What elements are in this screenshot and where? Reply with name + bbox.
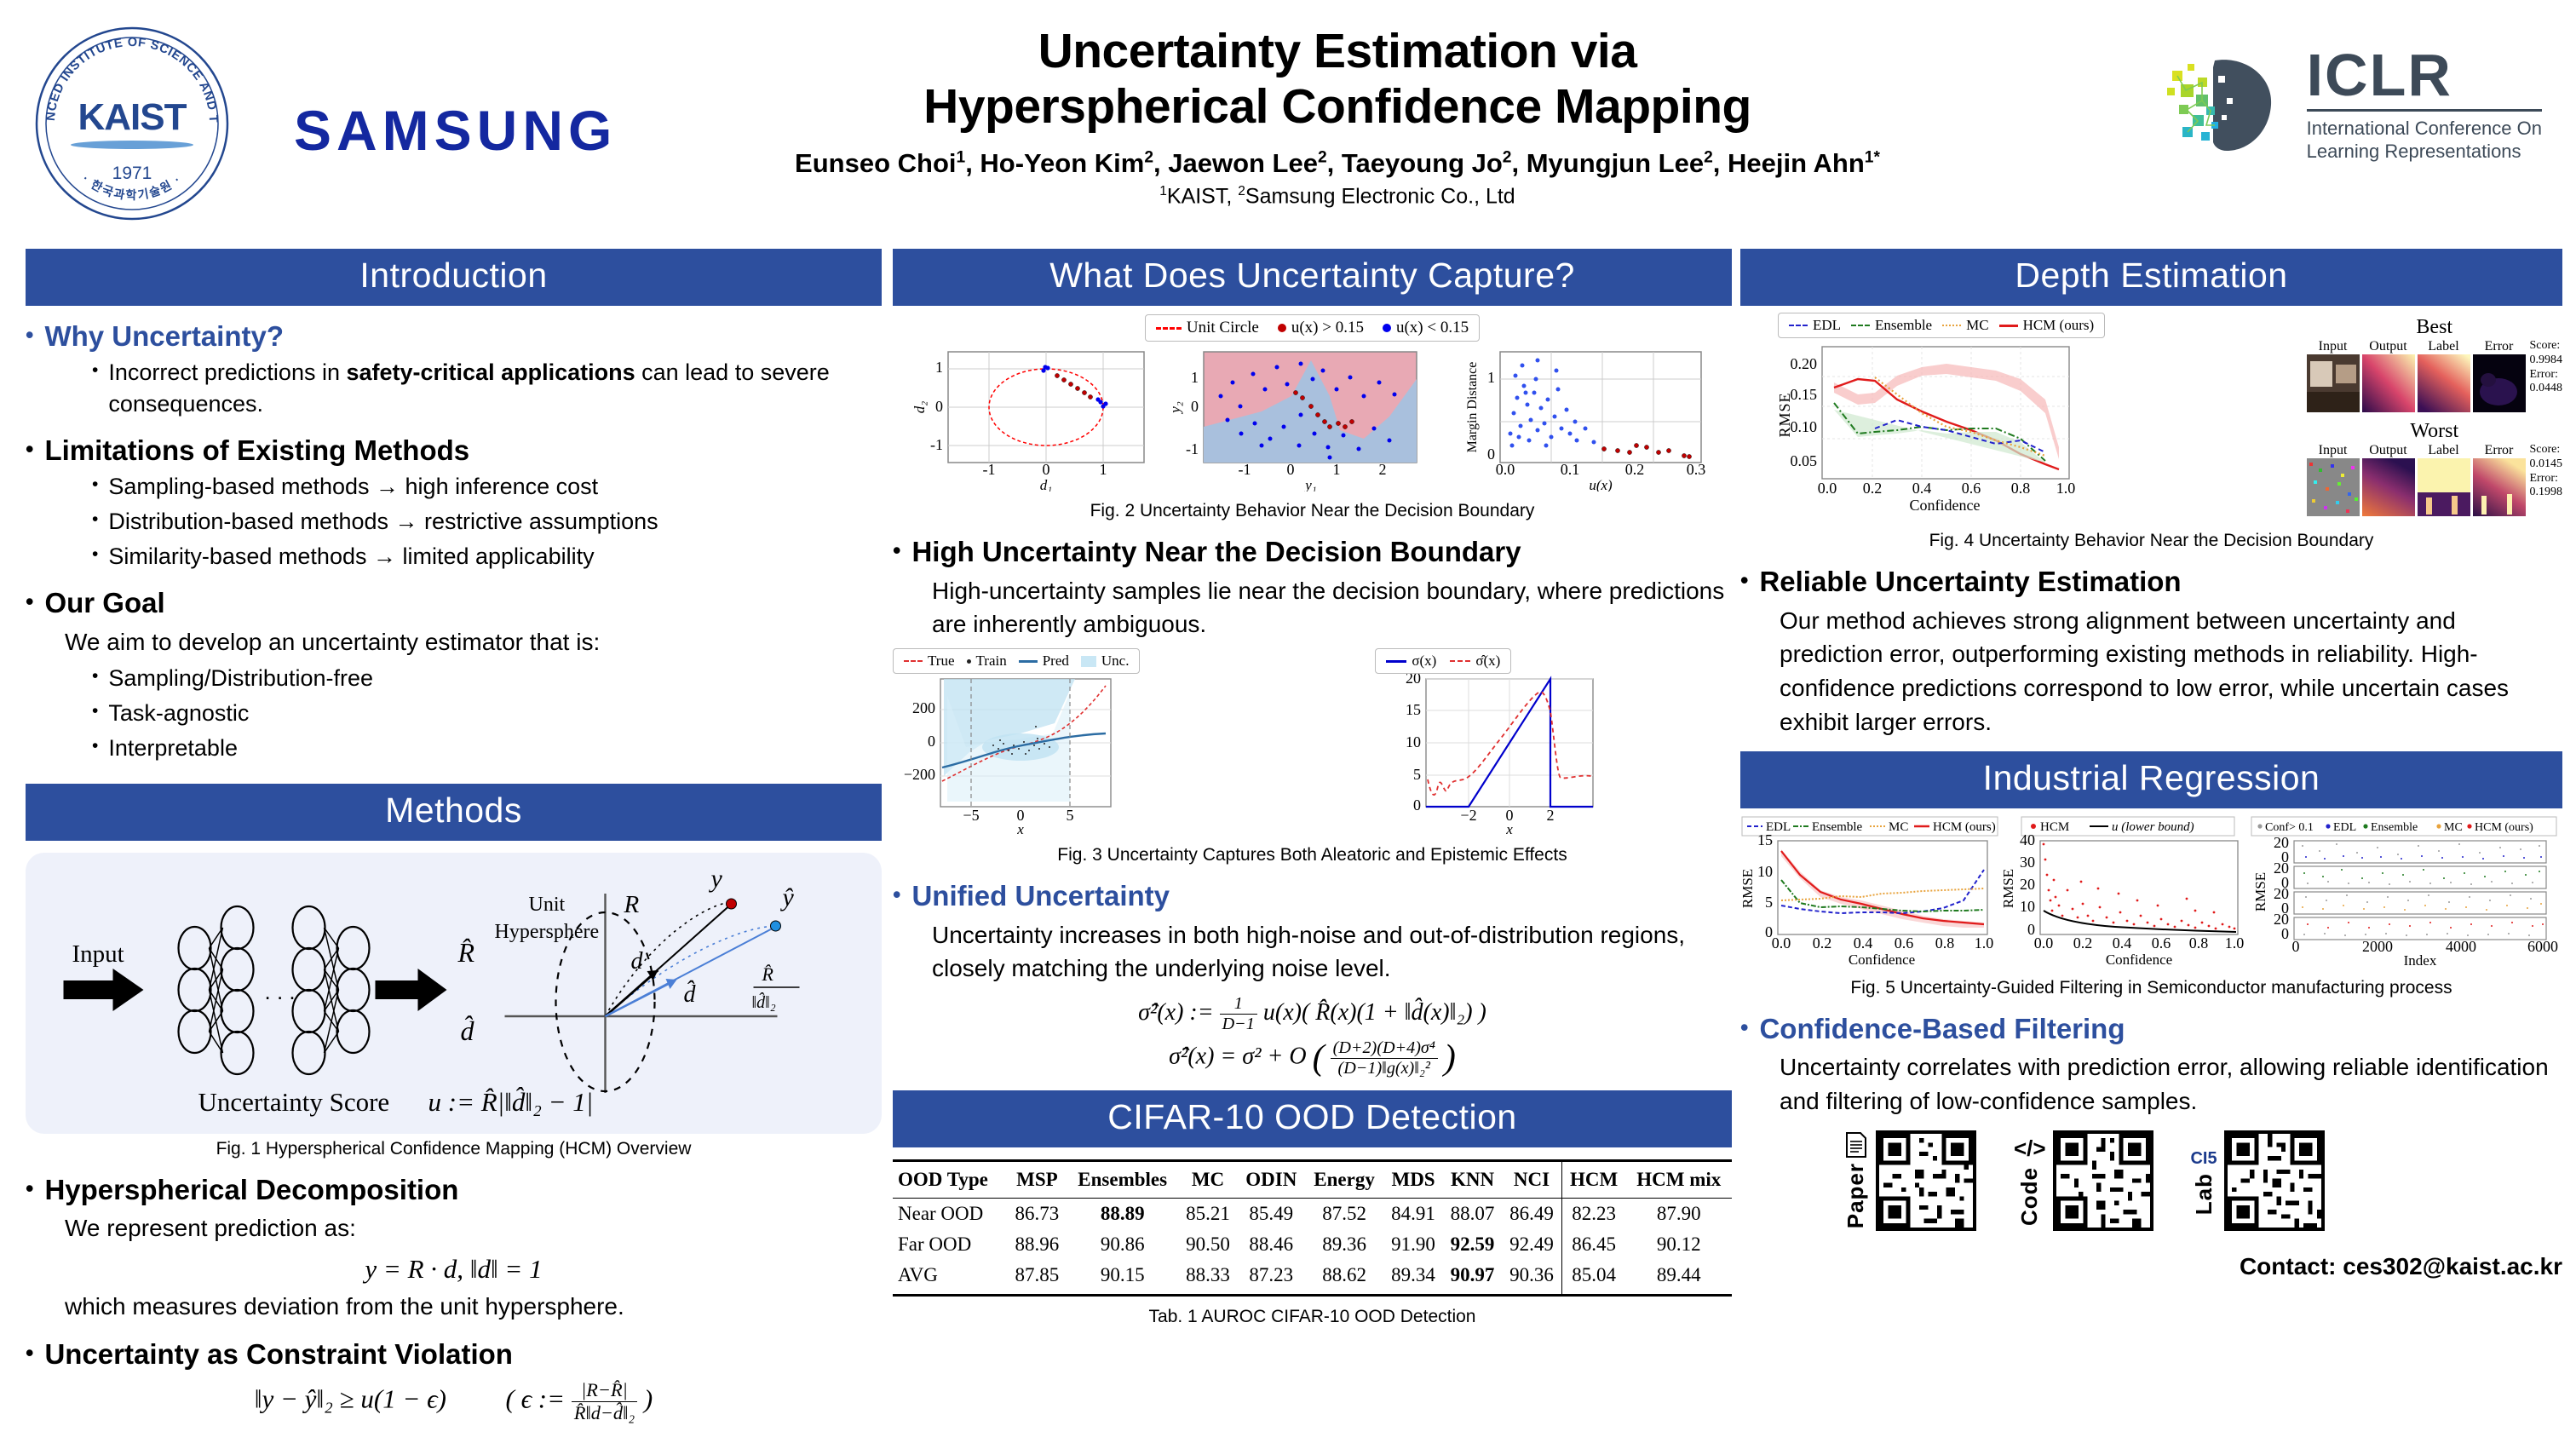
cell: 87.85 bbox=[1008, 1260, 1067, 1296]
svg-text:0.1: 0.1 bbox=[1560, 461, 1579, 478]
svg-text:1: 1 bbox=[1332, 461, 1340, 478]
legend-swatch bbox=[1851, 325, 1870, 326]
bullet-dot-icon: • bbox=[893, 535, 900, 569]
iclr-brain-icon bbox=[2164, 54, 2291, 156]
svg-text:MC: MC bbox=[2444, 821, 2463, 834]
legend-u-gt: u(x) > 0.15 bbox=[1278, 319, 1364, 337]
table-header-row: OOD Type MSP Ensembles MC ODIN Energy MD… bbox=[893, 1161, 1732, 1199]
bullet-dot-icon: • bbox=[92, 506, 98, 538]
col-mds: MDS bbox=[1383, 1161, 1442, 1199]
svg-text:0: 0 bbox=[2292, 938, 2300, 955]
best-label: Best bbox=[2307, 316, 2563, 339]
svg-text:Margin Distance: Margin Distance bbox=[1465, 362, 1480, 453]
bullet-reliable-estimation: • Reliable Uncertainty Estimation bbox=[1740, 565, 2562, 599]
legend-sigma-hat: σ̂(x) bbox=[1450, 653, 1500, 670]
svg-text:0.4: 0.4 bbox=[2113, 934, 2132, 952]
hcm-diagram-svg: Input bbox=[26, 853, 882, 1134]
legend-swatch bbox=[1081, 656, 1096, 667]
legend-unit-circle: Unit Circle bbox=[1156, 319, 1259, 337]
col-nci: NCI bbox=[1502, 1161, 1561, 1199]
bullet-dot-icon: • bbox=[92, 663, 98, 694]
row-label: AVG bbox=[893, 1260, 1008, 1296]
figure-3-caption: Fig. 3 Uncertainty Captures Both Aleator… bbox=[893, 845, 1732, 865]
sub-bullet-text: Distribution-based methods → restrictive… bbox=[108, 506, 658, 538]
svg-text:HCM (ours): HCM (ours) bbox=[2475, 821, 2533, 834]
svg-text:5: 5 bbox=[1067, 807, 1074, 824]
svg-text:10: 10 bbox=[2020, 898, 2035, 915]
formula-sigma-expansion: σ̂²(x) = σ² + O ( (D+2)(D+4)σ⁴ (D−1)‖g(x… bbox=[893, 1038, 1732, 1078]
cell: 90.97 bbox=[1443, 1260, 1502, 1296]
fig5-panel-3: 20 0 20 0 bbox=[2252, 834, 2558, 969]
svg-text:15: 15 bbox=[1406, 701, 1421, 718]
cell: 82.23 bbox=[1561, 1199, 1625, 1230]
formula-eps-lead: ( ϵ := bbox=[506, 1384, 566, 1414]
legend-u-lt: u(x) < 0.15 bbox=[1383, 319, 1469, 337]
col-energy: Energy bbox=[1305, 1161, 1383, 1199]
svg-text:0.05: 0.05 bbox=[1791, 452, 1818, 469]
section-header-cifar: CIFAR-10 OOD Detection bbox=[893, 1090, 1732, 1147]
cell: 87.90 bbox=[1626, 1199, 1733, 1230]
bullet-limitations: • Limitations of Existing Methods bbox=[26, 434, 882, 468]
uncertainty-score-formula: u := R̂|‖d̂‖₂ − 1| bbox=[428, 1086, 594, 1116]
svg-text:0.4: 0.4 bbox=[1912, 480, 1932, 497]
diagram-output-d: d̂ bbox=[461, 1015, 475, 1046]
svg-text:Confidence: Confidence bbox=[1849, 952, 1915, 968]
sub-bullet-sampling-based: • Sampling-based methods → high inferenc… bbox=[92, 471, 882, 503]
svg-text:0.3: 0.3 bbox=[1686, 461, 1705, 478]
svg-text:RMSE: RMSE bbox=[1740, 868, 1756, 907]
sub-bullet-sampling-free: • Sampling/Distribution-free bbox=[92, 663, 882, 694]
formula-tail: u(x)( R̂(x)(1 + ‖d̂(x)‖₂) ) bbox=[1263, 999, 1486, 1026]
samsung-logo: SAMSUNG bbox=[294, 98, 617, 163]
point-y bbox=[727, 899, 737, 909]
reliable-estimation-paragraph: Our method achieves strong alignment bet… bbox=[1780, 604, 2562, 739]
figure-4-legend: EDL Ensemble MC HCM (ours) bbox=[1778, 313, 2105, 338]
figure-4-caption: Fig. 4 Uncertainty Behavior Near the Dec… bbox=[1740, 531, 2562, 551]
bullet-dot-icon: • bbox=[92, 471, 98, 503]
thumb-img-output bbox=[2362, 354, 2415, 412]
svg-text:0.8: 0.8 bbox=[2011, 480, 2031, 497]
col-mc: MC bbox=[1178, 1161, 1237, 1199]
fig5-panel-2: 40 30 20 10 0 0.0 0.2 0.4 0.6 0.8 1.0 Co… bbox=[2000, 831, 2244, 968]
title-line-2: Hyperspherical Confidence Mapping bbox=[733, 79, 1942, 135]
svg-text:20: 20 bbox=[2020, 876, 2035, 893]
legend-swatch bbox=[1386, 660, 1406, 663]
subpanel-ensemble: 20 0 bbox=[2274, 860, 2546, 891]
cell: 88.33 bbox=[1178, 1260, 1237, 1296]
label-R: R bbox=[624, 891, 640, 918]
col-hcm: HCM bbox=[1561, 1161, 1625, 1199]
svg-text:0: 0 bbox=[2281, 925, 2289, 942]
cell: 86.73 bbox=[1008, 1199, 1067, 1230]
nn-layer-1 bbox=[179, 927, 211, 1053]
thumb-img-input-noisy bbox=[2307, 458, 2360, 516]
svg-text:-1: -1 bbox=[1186, 440, 1199, 457]
title-line-1: Uncertainty Estimation via bbox=[733, 24, 1942, 79]
cell: 87.52 bbox=[1305, 1199, 1383, 1230]
svg-text:Ensemble: Ensemble bbox=[2371, 821, 2418, 834]
cell: 91.90 bbox=[1383, 1229, 1442, 1260]
iclr-subtitle-1: International Conference On bbox=[2307, 117, 2542, 141]
cell: 89.34 bbox=[1383, 1260, 1442, 1296]
svg-text:5: 5 bbox=[1413, 766, 1421, 783]
figure-2-plots: -1 0 1 1 0 -1 d₁ d₂ bbox=[904, 345, 1722, 492]
figure-3-legend-right: σ(x) σ̂(x) bbox=[1375, 648, 1511, 674]
svg-text:Index: Index bbox=[2404, 952, 2437, 969]
worst-thumb-input: Input bbox=[2307, 443, 2360, 520]
thumb-img-label-worst bbox=[2418, 458, 2470, 516]
svg-text:2000: 2000 bbox=[2362, 938, 2393, 955]
cell: 85.21 bbox=[1178, 1199, 1237, 1230]
bullet-dot-icon: • bbox=[26, 434, 33, 468]
legend-mc: MC bbox=[1942, 317, 1988, 334]
formula-main-part: ‖y − ŷ‖₂ ≥ u(1 − ϵ) bbox=[255, 1384, 446, 1414]
cell: 85.04 bbox=[1561, 1260, 1625, 1296]
point-yhat bbox=[771, 921, 781, 931]
svg-text:0.0: 0.0 bbox=[1772, 934, 1791, 952]
sub-bullet-text: Interpretable bbox=[108, 733, 238, 764]
svg-text:EDL: EDL bbox=[2333, 821, 2356, 834]
affiliation-line: 1KAIST, 2Samsung Electronic Co., Ltd bbox=[733, 184, 1942, 209]
bullet-label: Hyperspherical Decomposition bbox=[44, 1173, 458, 1207]
cell: 90.86 bbox=[1067, 1229, 1178, 1260]
qr-lab-side: CI5 Lab bbox=[2191, 1146, 2217, 1215]
svg-text:HCM (ours): HCM (ours) bbox=[1933, 820, 1996, 834]
svg-text:−2: −2 bbox=[1461, 807, 1477, 824]
sub-bullet-text: Sampling/Distribution-free bbox=[108, 663, 373, 694]
legend-ensemble: Ensemble bbox=[1851, 317, 1932, 334]
qr-code[interactable]: </> Code bbox=[2014, 1130, 2153, 1231]
qr-paper-side: Paper bbox=[1843, 1132, 1869, 1228]
legend-swatch bbox=[1942, 325, 1961, 326]
col-knn: KNN bbox=[1443, 1161, 1502, 1199]
svg-text:HCM: HCM bbox=[2040, 820, 2069, 834]
svg-text:200: 200 bbox=[912, 699, 935, 716]
label-dhat: d̂ bbox=[684, 980, 697, 1008]
iclr-logo: ICLR International Conference On Learnin… bbox=[2164, 47, 2542, 164]
section-header-depth: Depth Estimation bbox=[1740, 249, 2562, 306]
legend-swatch bbox=[904, 660, 923, 662]
bullet-hyperspherical-decomposition: • Hyperspherical Decomposition bbox=[26, 1173, 882, 1207]
qr-lab-label: Lab bbox=[2191, 1173, 2217, 1215]
bullet-our-goal: • Our Goal bbox=[26, 586, 882, 620]
fig3-panel-1-wrap: True Train Pred Unc. bbox=[893, 648, 1349, 840]
legend-sigma: σ(x) bbox=[1386, 653, 1436, 670]
svg-text:0.15: 0.15 bbox=[1791, 386, 1818, 403]
sub-bullet-text: Sampling-based methods → high inference … bbox=[108, 471, 598, 503]
svg-text:0.0: 0.0 bbox=[1495, 461, 1515, 478]
cell: 89.36 bbox=[1305, 1229, 1383, 1260]
svg-text:40: 40 bbox=[2020, 831, 2035, 848]
best-thumb-output: Output bbox=[2362, 339, 2415, 417]
svg-text:0: 0 bbox=[1286, 461, 1294, 478]
svg-text:1.0: 1.0 bbox=[2225, 934, 2245, 952]
figure-2-legend: Unit Circle u(x) > 0.15 u(x) < 0.15 bbox=[1145, 314, 1480, 342]
bullet-dot-icon: • bbox=[92, 357, 98, 421]
svg-text:−200: −200 bbox=[904, 766, 935, 783]
table-row: Near OOD 86.73 88.89 85.21 85.49 87.52 8… bbox=[893, 1199, 1732, 1230]
svg-text:0.6: 0.6 bbox=[2152, 934, 2171, 952]
legend-swatch bbox=[1019, 660, 1038, 663]
svg-text:1.0: 1.0 bbox=[1975, 934, 1994, 952]
diagram-output-R: R̂ bbox=[457, 937, 475, 968]
svg-text:1971: 1971 bbox=[112, 164, 152, 183]
legend-hcm: HCM (ours) bbox=[1999, 317, 2095, 334]
best-thumb-input: Input bbox=[2307, 339, 2360, 417]
thumb-img-error-worst bbox=[2473, 458, 2526, 516]
bullet-label: Unified Uncertainty bbox=[911, 879, 1170, 913]
svg-text:10: 10 bbox=[1406, 733, 1421, 750]
svg-text:d₁: d₁ bbox=[1039, 477, 1051, 492]
figure-5-plots: EDL Ensemble MC HCM (ours) HCM u (lower … bbox=[1740, 815, 2560, 969]
svg-text:-1: -1 bbox=[1238, 461, 1251, 478]
sub-bullet-text: Similarity-based methods → limited appli… bbox=[108, 541, 594, 572]
svg-text:0: 0 bbox=[1487, 446, 1495, 463]
cell: 92.49 bbox=[1502, 1229, 1561, 1260]
svg-text:0.10: 0.10 bbox=[1791, 418, 1818, 435]
sub-bullet-task-agnostic: • Task-agnostic bbox=[92, 698, 882, 729]
formula-lead: σ̂²(x) = σ² + O bbox=[1169, 1044, 1307, 1070]
thumb-img-error bbox=[2473, 354, 2526, 412]
qr-code-image[interactable] bbox=[2053, 1130, 2153, 1231]
svg-text:0.6: 0.6 bbox=[1895, 934, 1914, 952]
page-title: Uncertainty Estimation via Hyperspherica… bbox=[733, 24, 1942, 135]
document-icon bbox=[1845, 1132, 1867, 1158]
svg-text:CI5: CI5 bbox=[2191, 1149, 2217, 1168]
thumb-img-label bbox=[2418, 354, 2470, 412]
code-icon: </> bbox=[2014, 1136, 2046, 1162]
svg-text:KAIST: KAIST bbox=[78, 96, 187, 138]
svg-text:MC: MC bbox=[1889, 820, 1908, 834]
svg-text:0.2: 0.2 bbox=[1813, 934, 1832, 952]
bullet-label: Confidence-Based Filtering bbox=[1759, 1012, 2125, 1046]
subpanel-hcm: 20 0 bbox=[2274, 911, 2546, 942]
label-yhat: ŷ bbox=[780, 883, 795, 911]
subpanel-mc: 20 0 bbox=[2274, 885, 2546, 917]
cell: 88.07 bbox=[1443, 1199, 1502, 1230]
cell: 88.89 bbox=[1067, 1199, 1178, 1230]
bullet-label: Our Goal bbox=[44, 586, 164, 620]
qr-paper-label: Paper bbox=[1843, 1163, 1869, 1228]
legend-swatch bbox=[967, 659, 971, 664]
confidence-filtering-paragraph: Uncertainty correlates with prediction e… bbox=[1780, 1050, 2562, 1118]
legend-swatch bbox=[1999, 325, 2018, 327]
svg-text:20: 20 bbox=[1406, 674, 1421, 687]
table-1-caption: Tab. 1 AUROC CIFAR-10 OOD Detection bbox=[893, 1307, 1732, 1327]
svg-text:R̂: R̂ bbox=[762, 963, 774, 985]
figure-2-caption: Fig. 2 Uncertainty Behavior Near the Dec… bbox=[893, 501, 1732, 521]
best-thumb-label: Label bbox=[2418, 339, 2470, 417]
unit-label-1: Unit bbox=[529, 894, 566, 916]
svg-text:30: 30 bbox=[2020, 854, 2035, 871]
sub-bullet-text: Task-agnostic bbox=[108, 698, 249, 729]
svg-text:2: 2 bbox=[1547, 807, 1555, 824]
cell: 90.50 bbox=[1178, 1229, 1237, 1260]
column-left: Introduction • Why Uncertainty? • Incorr… bbox=[26, 249, 882, 1424]
label-Rhat-over-dhat: R̂ ‖d̂‖₂ bbox=[752, 963, 800, 1012]
svg-text:0: 0 bbox=[1191, 398, 1199, 415]
arrow-in-icon bbox=[64, 969, 144, 1011]
svg-text:0: 0 bbox=[928, 733, 935, 750]
svg-text:1: 1 bbox=[1099, 461, 1107, 478]
bullet-label: Limitations of Existing Methods bbox=[44, 434, 469, 468]
fig5-legend-2: HCM u (lower bound) bbox=[2021, 817, 2234, 836]
worst-thumb-output: Output bbox=[2362, 443, 2415, 520]
figure-2: Unit Circle u(x) > 0.15 u(x) < 0.15 bbox=[893, 314, 1732, 496]
best-thumb-error: Error bbox=[2473, 339, 2526, 417]
svg-text:−5: −5 bbox=[963, 807, 979, 824]
thumb-img-input bbox=[2307, 354, 2360, 412]
fig4-left: EDL Ensemble MC HCM (ours) bbox=[1740, 313, 2319, 526]
svg-text:RMSE: RMSE bbox=[1776, 392, 1793, 437]
qr-paper-image[interactable] bbox=[1876, 1130, 1976, 1231]
sub-bullet-interpretable: • Interpretable bbox=[92, 733, 882, 764]
legend-edl: EDL bbox=[1789, 317, 1841, 334]
legend-swatch bbox=[1156, 327, 1182, 330]
poster-header: KOREA ADVANCED INSTITUTE OF SCIENCE AND … bbox=[0, 0, 2576, 247]
goal-paragraph: We aim to develop an uncertainty estimat… bbox=[65, 625, 882, 659]
cell: 90.15 bbox=[1067, 1260, 1178, 1296]
svg-text:x: x bbox=[1506, 821, 1514, 836]
legend-swatch bbox=[1278, 324, 1286, 332]
column-middle: What Does Uncertainty Capture? Unit Circ… bbox=[893, 249, 1732, 1327]
cifar-ood-table: OOD Type MSP Ensembles MC ODIN Energy MD… bbox=[893, 1159, 1732, 1297]
svg-text:0.0: 0.0 bbox=[2034, 934, 2054, 952]
bullet-unified-uncertainty: • Unified Uncertainty bbox=[893, 879, 1732, 913]
table-row: Far OOD 88.96 90.86 90.50 88.46 89.36 91… bbox=[893, 1229, 1732, 1260]
legend-swatch bbox=[1450, 660, 1470, 662]
bullet-dot-icon: • bbox=[26, 1337, 33, 1371]
worst-thumb-label: Label bbox=[2418, 443, 2470, 520]
best-metrics: Score: 0.9984 Error: 0.0448 bbox=[2530, 339, 2563, 396]
bullet-dot-icon: • bbox=[92, 541, 98, 572]
legend-swatch bbox=[1789, 325, 1808, 326]
cell: 88.46 bbox=[1238, 1229, 1305, 1260]
col-ood-type: OOD Type bbox=[893, 1161, 1008, 1199]
worst-label: Worst bbox=[2307, 420, 2563, 443]
qr-paper[interactable]: Paper bbox=[1843, 1130, 1976, 1231]
nn-layer-3 bbox=[293, 906, 325, 1074]
formula-eps-fraction: |R−R̂| R̂‖d−d̂‖₂ bbox=[572, 1379, 637, 1424]
figure-3-legend-left: True Train Pred Unc. bbox=[893, 648, 1140, 674]
formula-constraint-violation: ‖y − ŷ‖₂ ≥ u(1 − ϵ) ( ϵ := |R−R̂| R̂‖d−d… bbox=[26, 1379, 882, 1424]
iclr-subtitle-2: Learning Representations bbox=[2307, 140, 2542, 164]
iclr-wordmark: ICLR bbox=[2307, 47, 2542, 104]
author-list: Eunseo Choi1, Ho-Yeon Kim2, Jaewon Lee2,… bbox=[733, 148, 1942, 179]
label-d: d bbox=[631, 948, 644, 975]
figure-5-caption: Fig. 5 Uncertainty-Guided Filtering in S… bbox=[1740, 978, 2562, 998]
svg-text:0.2: 0.2 bbox=[1863, 480, 1883, 497]
nn-layer-2 bbox=[221, 906, 254, 1074]
bullet-dot-icon: • bbox=[1740, 1012, 1748, 1046]
bullet-why-uncertainty: • Why Uncertainty? bbox=[26, 319, 882, 354]
fig5-legend-3: Conf> 0.1 EDL Ensemble MC HCM (ours) bbox=[2251, 817, 2556, 836]
svg-text:y₁: y₁ bbox=[1303, 477, 1316, 492]
bullet-dot-icon: • bbox=[893, 879, 900, 913]
column-right: Depth Estimation EDL Ensemble MC HCM (ou… bbox=[1740, 249, 2562, 1280]
svg-text:u (lower bound): u (lower bound) bbox=[2112, 820, 2194, 834]
svg-text:Confidence: Confidence bbox=[2106, 952, 2172, 968]
bullet-constraint-violation: • Uncertainty as Constraint Violation bbox=[26, 1337, 882, 1371]
figure-3: True Train Pred Unc. bbox=[893, 648, 1732, 840]
formula-decomposition: y = R · d, ‖d‖ = 1 bbox=[26, 1254, 882, 1285]
bullet-dot-icon: • bbox=[1740, 565, 1748, 599]
section-header-introduction: Introduction bbox=[26, 249, 882, 306]
svg-text:1: 1 bbox=[1487, 369, 1495, 386]
svg-text:0.2: 0.2 bbox=[2073, 934, 2093, 952]
svg-text:5: 5 bbox=[1765, 894, 1773, 911]
cell: 88.62 bbox=[1305, 1260, 1383, 1296]
formula-fraction: 1 D−1 bbox=[1220, 994, 1257, 1034]
qr-lab[interactable]: CI5 Lab bbox=[2191, 1130, 2325, 1231]
nn-layer-4 bbox=[337, 927, 370, 1053]
bullet-dot-icon: • bbox=[92, 698, 98, 729]
svg-text:-1: -1 bbox=[930, 436, 943, 453]
legend-unc: Unc. bbox=[1081, 653, 1130, 670]
section-header-industrial: Industrial Regression bbox=[1740, 751, 2562, 808]
svg-text:‖d̂‖₂: ‖d̂‖₂ bbox=[752, 991, 776, 1011]
qr-lab-image[interactable] bbox=[2224, 1130, 2325, 1231]
lab-icon: CI5 bbox=[2191, 1146, 2217, 1168]
fig3-panel-2-wrap: σ(x) σ̂(x) 20 15 10 5 0 −2 bbox=[1375, 648, 1732, 840]
svg-text:0: 0 bbox=[1413, 796, 1421, 814]
svg-text:0: 0 bbox=[935, 398, 943, 415]
col-ensembles: Ensembles bbox=[1067, 1161, 1178, 1199]
bullet-dot-icon: • bbox=[92, 733, 98, 764]
contact-info: Contact: ces302@kaist.ac.kr bbox=[1740, 1253, 2562, 1280]
thumb-img-output-worst bbox=[2362, 458, 2415, 516]
diagram-ellipsis: . . . bbox=[265, 979, 296, 1004]
cell: 90.12 bbox=[1626, 1229, 1733, 1260]
figure-4: EDL Ensemble MC HCM (ours) bbox=[1740, 313, 2562, 526]
svg-text:0.8: 0.8 bbox=[2189, 934, 2209, 952]
formula-eps-tail: ) bbox=[644, 1384, 653, 1414]
cell: 84.91 bbox=[1383, 1199, 1442, 1230]
svg-text:1.0: 1.0 bbox=[2056, 480, 2076, 497]
svg-text:y₂: y₂ bbox=[1167, 401, 1183, 415]
legend-true: True bbox=[904, 653, 955, 670]
cell: 92.59 bbox=[1443, 1229, 1502, 1260]
svg-text:Ensemble: Ensemble bbox=[1812, 820, 1862, 834]
svg-text:0.0: 0.0 bbox=[1818, 480, 1837, 497]
worst-row: Input bbox=[2307, 443, 2563, 520]
uncertainty-score-label: Uncertainty Score bbox=[198, 1087, 390, 1117]
unit-label-2: Hypersphere bbox=[495, 921, 600, 943]
svg-text:4000: 4000 bbox=[2446, 938, 2476, 955]
table-row: AVG 87.85 90.15 88.33 87.23 88.62 89.34 … bbox=[893, 1260, 1732, 1296]
legend-pred: Pred bbox=[1019, 653, 1069, 670]
cell: 85.49 bbox=[1238, 1199, 1305, 1230]
svg-text:Confidence: Confidence bbox=[1910, 497, 1981, 514]
legend-train: Train bbox=[967, 653, 1007, 670]
decomposition-paragraph: We represent prediction as: bbox=[65, 1211, 882, 1245]
formula-sigma-definition: σ̂²(x) := 1 D−1 u(x)( R̂(x)(1 + ‖d̂(x)‖₂… bbox=[893, 994, 1732, 1034]
cell: 87.23 bbox=[1238, 1260, 1305, 1296]
col-hcm-mix: HCM mix bbox=[1626, 1161, 1733, 1199]
fig3-panel-1: 200 0 −200 −5 0 5 x bbox=[893, 674, 1148, 836]
svg-text:0.2: 0.2 bbox=[1624, 461, 1644, 478]
formula-lead: σ̂²(x) := bbox=[1138, 999, 1214, 1026]
bullet-dot-icon: • bbox=[26, 1173, 33, 1207]
fig2-panel-3: 0.0 0.1 0.2 0.3 1 0 u(x) Margin Distance bbox=[1465, 352, 1705, 492]
bullet-label: Reliable Uncertainty Estimation bbox=[1759, 565, 2181, 599]
bullet-dot-icon: • bbox=[26, 319, 33, 354]
cell: 88.96 bbox=[1008, 1229, 1067, 1260]
row-label: Far OOD bbox=[893, 1229, 1008, 1260]
sub-bullet-safety-critical: • Incorrect predictions in safety-critic… bbox=[92, 357, 882, 421]
bullet-dot-icon: • bbox=[26, 586, 33, 620]
bullet-confidence-filtering: • Confidence-Based Filtering bbox=[1740, 1012, 2562, 1046]
